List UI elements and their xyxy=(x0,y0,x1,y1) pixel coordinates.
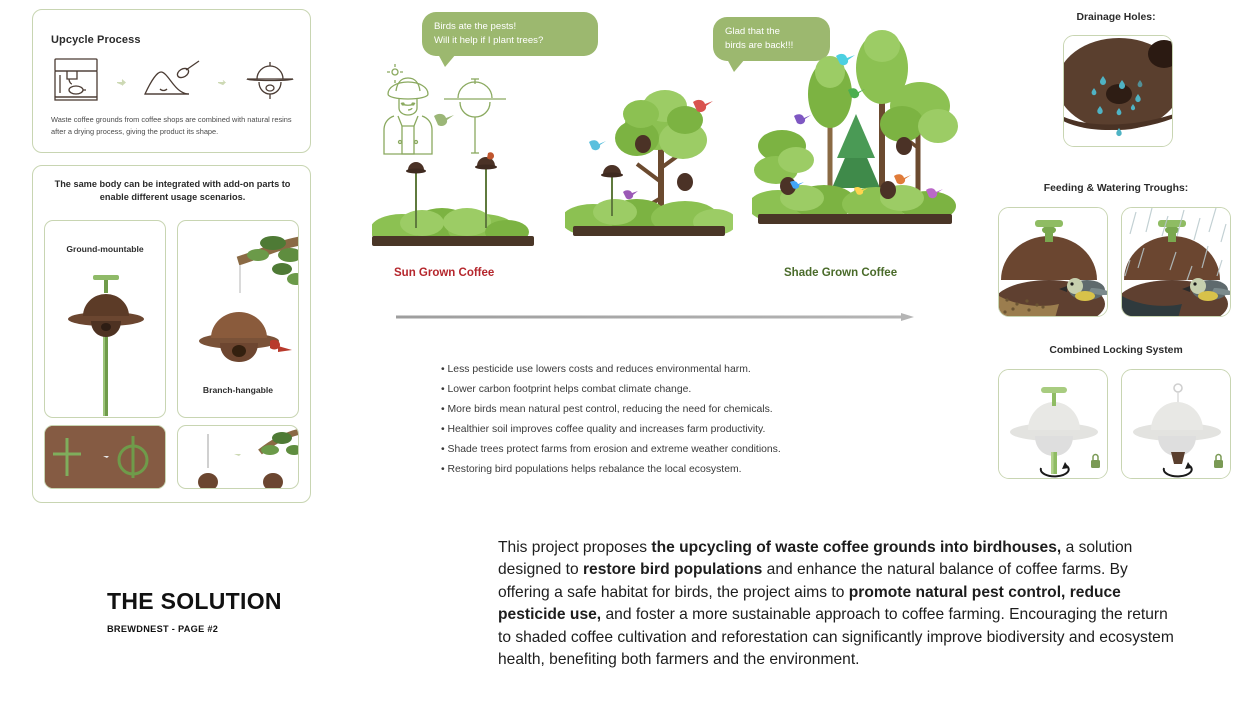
soil-bar xyxy=(758,214,952,224)
para-bold-1: the upcycling of waste coffee grounds in… xyxy=(651,539,1061,556)
benefit-item: • More birds mean natural pest control, … xyxy=(441,400,861,420)
para-seg-1: This project proposes xyxy=(498,539,651,556)
bird-line-art xyxy=(434,114,454,126)
page-subtitle: BREWDNEST - PAGE #2 xyxy=(107,624,218,634)
para-bold-2: restore bird populations xyxy=(583,561,762,578)
drainage-holes-image xyxy=(1063,35,1173,147)
ground-mountable-panel: Ground-mountable xyxy=(44,220,166,418)
benefit-item: • Shade trees protect farms from erosion… xyxy=(441,440,861,460)
shade-grown-label: Shade Grown Coffee xyxy=(784,267,897,279)
speech-bubble-farmer: Birds ate the pests! Will it help if I p… xyxy=(422,12,598,56)
drainage-holes-title: Drainage Holes: xyxy=(1000,12,1232,23)
benefit-item: • Less pesticide use lowers costs and re… xyxy=(441,360,861,380)
transition-coffee-scene xyxy=(565,62,733,246)
benefit-item: • Healthier soil improves coffee quality… xyxy=(441,420,861,440)
coffee-grounds-scoop-icon xyxy=(142,56,204,105)
upcycle-description: Waste coffee grounds from coffee shops a… xyxy=(51,114,295,138)
locking-system-title: Combined Locking System xyxy=(1000,345,1232,356)
feeding-troughs-title: Feeding & Watering Troughs: xyxy=(1000,183,1232,194)
branch-hook-illustration xyxy=(178,426,299,489)
birdhouse-icon xyxy=(243,54,297,107)
bubble-left-line2: Will it help if I plant trees? xyxy=(434,34,586,48)
usage-card-heading: The same body can be integrated with add… xyxy=(47,178,298,205)
benefit-item: • Lower carbon footprint helps combat cl… xyxy=(441,380,861,400)
upcycle-card-title: Upcycle Process xyxy=(51,34,141,46)
sun-grown-label: Sun Grown Coffee xyxy=(394,267,494,279)
ground-lock-image xyxy=(998,369,1108,479)
branch-hangable-panel: Branch-hangable xyxy=(177,220,299,418)
benefit-item: • Restoring bird populations helps rebal… xyxy=(441,460,861,480)
page-title: THE SOLUTION xyxy=(107,588,282,615)
soil-bar xyxy=(372,236,534,246)
sun-grown-coffee-scene xyxy=(372,58,534,246)
branch-hangable-label: Branch-hangable xyxy=(178,385,298,395)
farmer-line-art xyxy=(384,64,432,154)
soil-anchor-illustration xyxy=(45,426,166,489)
bubble-left-line1: Birds ate the pests! xyxy=(434,20,586,34)
solution-paragraph: This project proposes the upcycling of w… xyxy=(498,537,1180,672)
ground-mountable-label: Ground-mountable xyxy=(45,244,165,254)
usage-scenarios-card: The same body can be integrated with add… xyxy=(32,165,311,503)
soil-anchor-panel xyxy=(44,425,166,489)
hang-lock-image xyxy=(1121,369,1231,479)
feeding-trough-seed-image xyxy=(998,207,1108,317)
process-arrow-icon-2 xyxy=(218,75,229,86)
birdhouse-line-art xyxy=(444,79,506,153)
benefits-list: • Less pesticide use lowers costs and re… xyxy=(441,360,861,480)
branch-hook-panel xyxy=(177,425,299,489)
process-arrow-icon xyxy=(117,75,128,86)
shade-grown-coffee-scene xyxy=(752,28,958,246)
watering-trough-rain-image xyxy=(1121,207,1231,317)
upcycle-process-card: Upcycle Process xyxy=(32,9,311,153)
espresso-machine-icon xyxy=(49,55,103,106)
poster-page: Upcycle Process xyxy=(0,0,1260,709)
transition-arrow xyxy=(396,308,914,316)
soil-bar xyxy=(573,226,725,236)
upcycle-icon-row xyxy=(49,52,297,108)
